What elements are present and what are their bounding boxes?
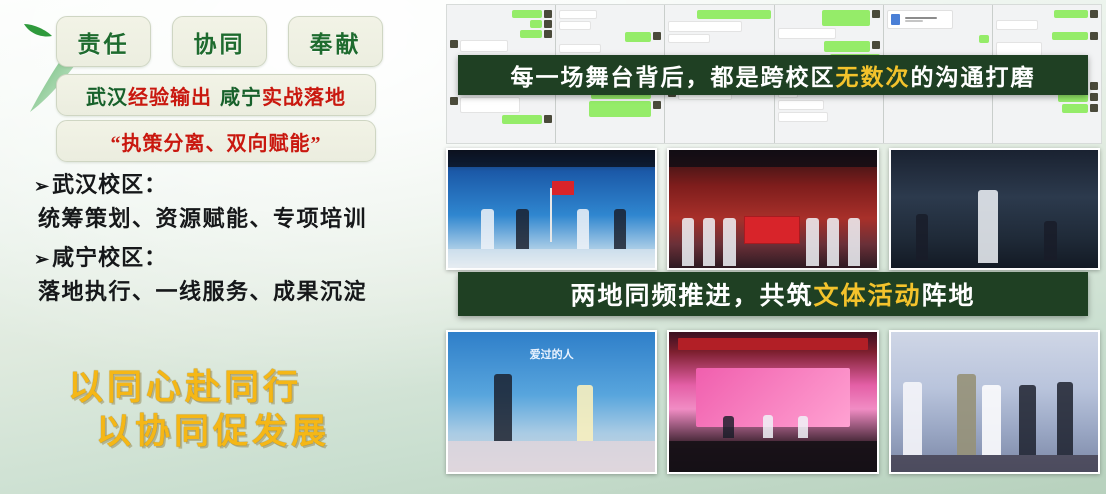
value-pill-label: 奉献 [310, 25, 362, 59]
campus-bullet-list: ➢ 武汉校区： 统筹策划、资源赋能、专项培训 ➢ 咸宁校区： 落地执行、一线服务… [34, 172, 434, 317]
headline-part-xianning: 咸宁 [212, 81, 262, 110]
photo-duet: 爱过的人 [446, 330, 657, 474]
value-pill-label: 协同 [194, 25, 246, 59]
value-pill-responsibility: 责任 [56, 16, 151, 67]
headline-part-practice: 实战落地 [262, 81, 346, 110]
slogan-block: 以同心赴同行 以协同促发展 [0, 366, 440, 454]
bullet-heading-label: 武汉校区： [52, 172, 167, 197]
value-pill-dedication: 奉献 [288, 16, 383, 67]
banner-communication: 每一场舞台背后，都是跨校区无数次的沟通打磨 [458, 55, 1088, 95]
photo-solo-singer [889, 148, 1100, 270]
photo-auditorium [667, 330, 878, 474]
banner-highlight: 文体活动 [813, 283, 921, 310]
quote-bar-text: “执策分离、双向赋能” [111, 127, 322, 156]
photo-row-bottom: 爱过的人 [446, 330, 1100, 474]
photo-skit [889, 330, 1100, 474]
headline-part-export: 经验输出 [128, 81, 212, 110]
slide-root: 责任 协同 奉献 武汉经验输出咸宁实战落地 “执策分离、双向赋能” ➢ 武汉校区… [0, 0, 1106, 494]
bullet-body-xianning: 落地执行、一线服务、成果沉淀 [38, 279, 434, 305]
photo-choir-flag [667, 148, 878, 270]
slogan-line-1: 以同心赴同行 [68, 366, 440, 410]
value-pill-row: 责任 协同 奉献 [56, 16, 383, 67]
banner-activities-text: 两地同频推进，共筑文体活动阵地 [570, 276, 975, 312]
headline-bar: 武汉经验输出咸宁实战落地 [56, 74, 376, 116]
banner-prefix: 每一场舞台背后，都是跨校区 [511, 65, 836, 90]
bullet-heading-xianning: ➢ 咸宁校区： [34, 245, 434, 270]
bullet-heading-label: 咸宁校区： [52, 245, 167, 270]
banner-communication-text: 每一场舞台背后，都是跨校区无数次的沟通打磨 [511, 58, 1036, 92]
headline-part-wuhan: 武汉 [86, 81, 128, 110]
banner-suffix: 阵地 [922, 283, 976, 310]
banner-activities: 两地同频推进，共筑文体活动阵地 [458, 272, 1088, 316]
bullet-marker-icon: ➢ [34, 176, 50, 197]
left-content-column: 责任 协同 奉献 武汉经验输出咸宁实战落地 “执策分离、双向赋能” ➢ 武汉校区… [0, 0, 440, 494]
photo-row-top [446, 148, 1100, 270]
value-pill-collaboration: 协同 [172, 16, 267, 67]
bullet-marker-icon: ➢ [34, 249, 50, 270]
bullet-heading-wuhan: ➢ 武汉校区： [34, 172, 434, 197]
right-media-column: 每一场舞台背后，都是跨校区无数次的沟通打磨 [440, 0, 1106, 494]
photo-flag-stage [446, 148, 657, 270]
banner-highlight: 无数次 [836, 65, 911, 90]
bullet-body-wuhan: 统筹策划、资源赋能、专项培训 [38, 206, 434, 232]
banner-suffix: 的沟通打磨 [911, 65, 1036, 90]
quote-bar: “执策分离、双向赋能” [56, 120, 376, 162]
file-attachment-icon [891, 14, 900, 25]
duet-screen-text: 爱过的人 [448, 346, 655, 362]
banner-prefix: 两地同频推进，共筑 [570, 283, 813, 310]
value-pill-label: 责任 [78, 25, 130, 59]
slogan-line-2: 以协同促发展 [96, 410, 440, 454]
